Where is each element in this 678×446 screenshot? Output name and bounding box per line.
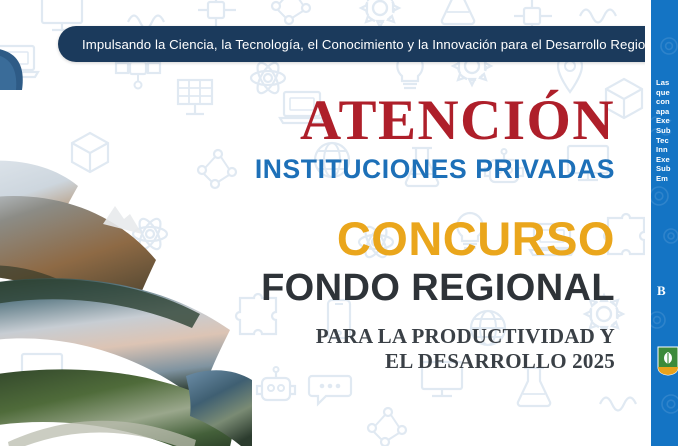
tagline-ribbon: Impulsando la Ciencia, la Tecnología, el… (58, 26, 678, 62)
heading-fondo-regional: FONDO REGIONAL (180, 266, 615, 310)
right-info-panel: Las que con apa Exe Sub Tec Inn Exe Sub … (651, 0, 678, 446)
page-title-atencion: ATENCIÓN (180, 92, 615, 150)
green-shield-logo-icon (657, 346, 678, 376)
tagline-text: Impulsando la Ciencia, la Tecnología, el… (82, 37, 645, 52)
heading-concurso: CONCURSO (180, 212, 615, 266)
subheading-line-2: EL DESARROLLO 2025 (180, 349, 615, 374)
panel-gear-watermark (651, 0, 678, 446)
subtitle-instituciones-privadas: INSTITUCIONES PRIVADAS (180, 152, 615, 186)
poster-canvas: ATENCIÓN INSTITUCIONES PRIVADAS CONCURSO… (0, 0, 678, 446)
panel-body-text: Las que con apa Exe Sub Tec Inn Exe Sub … (656, 78, 678, 184)
subheading-line-1: PARA LA PRODUCTIVIDAD Y (180, 324, 615, 349)
subheading-productividad: PARA LA PRODUCTIVIDAD Y EL DESARROLLO 20… (180, 324, 615, 374)
panel-bases-label: B (657, 283, 666, 299)
corner-accent-shape (0, 48, 38, 90)
headline-block: ATENCIÓN INSTITUCIONES PRIVADAS CONCURSO… (180, 92, 645, 374)
